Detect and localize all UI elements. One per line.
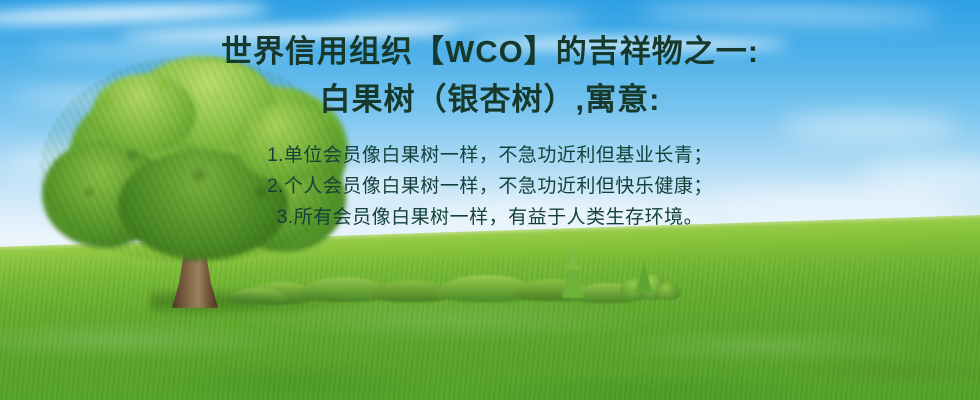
mascot-meaning-item-3: 3.所有会员像白果树一样，有益于人类生存环境。 — [0, 203, 980, 233]
heading-line-2: 白果树（银杏树）,寓意: — [0, 80, 980, 120]
wco-mascot-banner: 世界信用组织【WCO】的吉祥物之一: 白果树（银杏树）,寓意: 1.单位会员像白… — [0, 0, 980, 400]
mascot-meaning-item-1: 1.单位会员像白果树一样，不急功近利但基业长青； — [0, 141, 980, 171]
grass-hill — [0, 214, 980, 400]
heading-line-1: 世界信用组织【WCO】的吉祥物之一: — [0, 32, 980, 72]
mascot-meaning-item-2: 2.个人会员像白果树一样，不急功近利但快乐健康； — [0, 172, 980, 202]
